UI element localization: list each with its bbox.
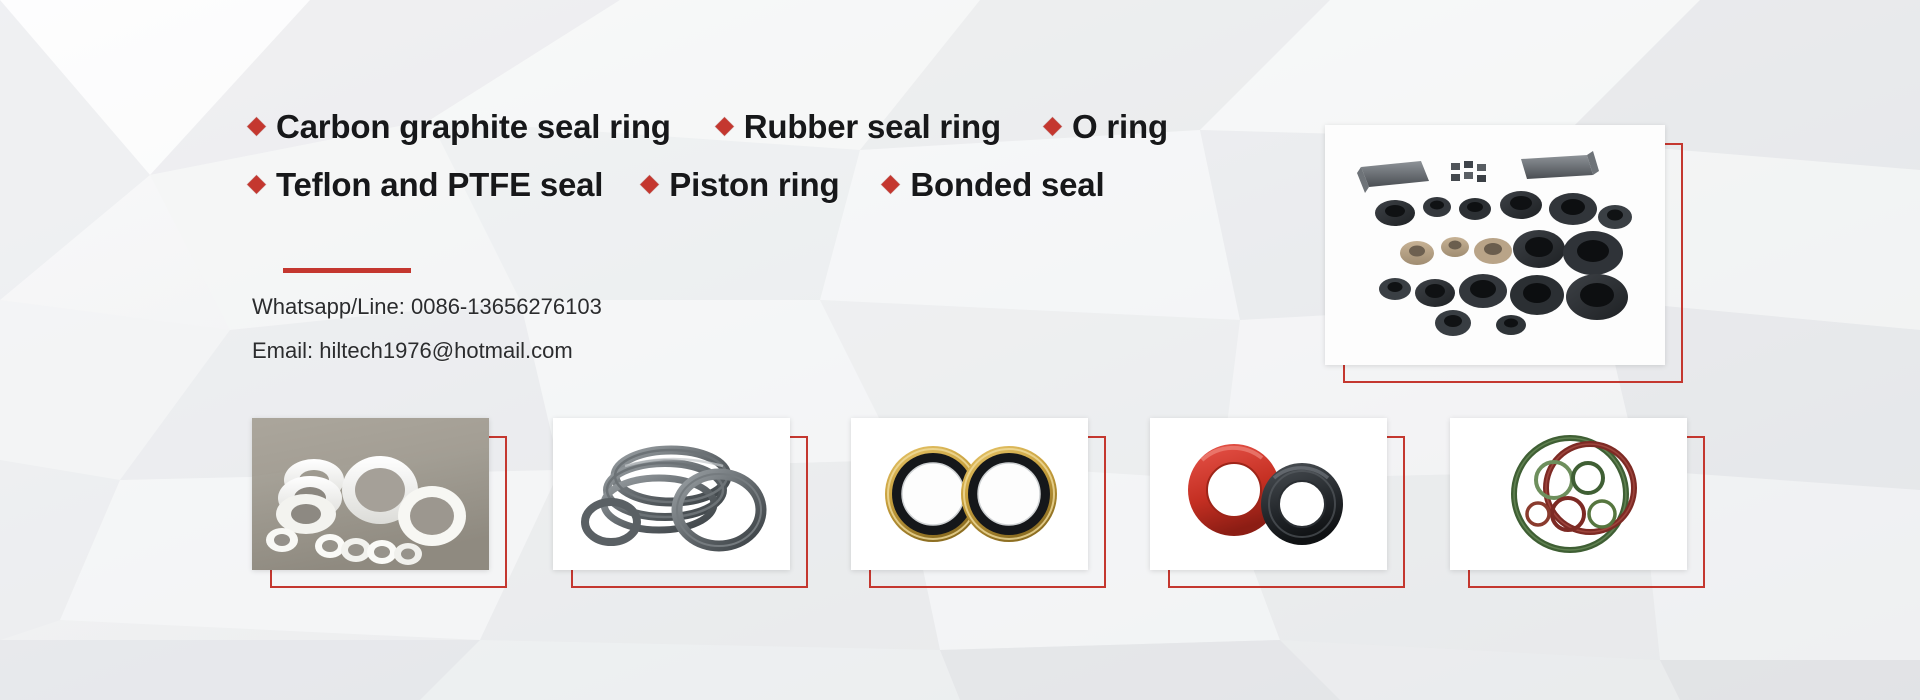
diamond-bullet-icon — [247, 175, 265, 193]
feature-label: Teflon and PTFE seal — [276, 168, 603, 201]
feature-item-bonded-seal: Bonded seal — [884, 168, 1104, 201]
red-black-seals-photo — [1150, 418, 1387, 570]
diamond-bullet-icon — [882, 175, 900, 193]
feature-item-piston-ring: Piston ring — [643, 168, 839, 201]
diamond-bullet-icon — [641, 175, 659, 193]
grey-piston-rings-photo — [553, 418, 790, 570]
promo-banner: Carbon graphite seal ring Rubber seal ri… — [0, 0, 1920, 700]
email-line: Email: hiltech1976@hotmail.com — [252, 340, 602, 362]
whatsapp-line: Whatsapp/Line: 0086-13656276103 — [252, 296, 602, 318]
feature-label: Piston ring — [669, 168, 839, 201]
feature-item-rubber-seal-ring: Rubber seal ring — [718, 110, 1001, 143]
feature-list: Carbon graphite seal ring Rubber seal ri… — [250, 110, 1250, 201]
feature-row-2: Teflon and PTFE seal Piston ring Bonded … — [250, 168, 1250, 201]
feature-label: Bonded seal — [910, 168, 1104, 201]
contact-info: Whatsapp/Line: 0086-13656276103 Email: h… — [252, 296, 602, 384]
feature-item-teflon-and-ptfe-seal: Teflon and PTFE seal — [250, 168, 603, 201]
feature-label: O ring — [1072, 110, 1168, 143]
diamond-bullet-icon — [715, 117, 733, 135]
gold-black-oil-seals-photo — [851, 418, 1088, 570]
carbon-graphite-seal-parts-photo — [1325, 125, 1665, 365]
red-divider — [283, 268, 411, 273]
o-ring-assortment-photo — [1450, 418, 1687, 570]
feature-label: Rubber seal ring — [744, 110, 1001, 143]
feature-item-carbon-graphite-seal-ring: Carbon graphite seal ring — [250, 110, 671, 143]
feature-item-o-ring: O ring — [1046, 110, 1168, 143]
diamond-bullet-icon — [247, 117, 265, 135]
feature-row-1: Carbon graphite seal ring Rubber seal ri… — [250, 110, 1250, 143]
feature-label: Carbon graphite seal ring — [276, 110, 671, 143]
ptfe-white-rings-photo — [252, 418, 489, 570]
diamond-bullet-icon — [1043, 117, 1061, 135]
